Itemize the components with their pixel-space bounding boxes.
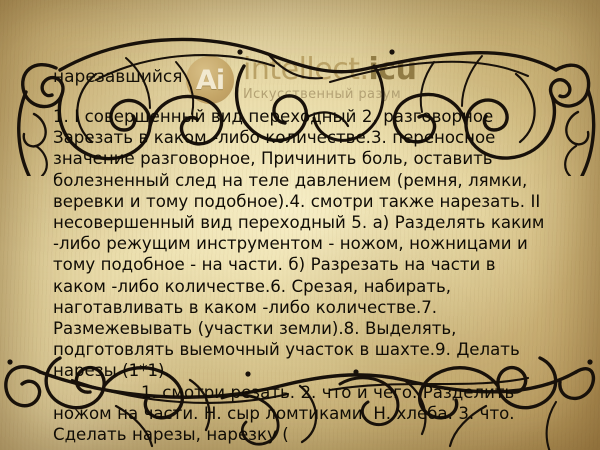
watermark-brand-second: icu — [369, 52, 417, 87]
watermark-brand-first: intellect. — [243, 52, 369, 87]
slide-canvas: Ai intellect.icu Искусственный разум нар… — [0, 0, 600, 450]
body-text: 1. I совершенный вид переходный 2. разго… — [53, 106, 553, 445]
watermark-brand: intellect.icu — [243, 54, 416, 86]
watermark-logo-text: Ai — [196, 67, 224, 94]
paragraph-2: 1. смотри резать. 2. что и чего. Раздели… — [53, 382, 553, 446]
watermark: Ai intellect.icu Искусственный разум — [186, 52, 416, 104]
watermark-tagline: Искусственный разум — [243, 87, 416, 102]
paragraph-1: 1. I совершенный вид переходный 2. разго… — [53, 106, 553, 382]
watermark-text-group: intellect.icu Искусственный разум — [243, 54, 416, 102]
page-title: нарезавшийся — [53, 67, 182, 88]
watermark-logo-icon: Ai — [186, 56, 234, 104]
